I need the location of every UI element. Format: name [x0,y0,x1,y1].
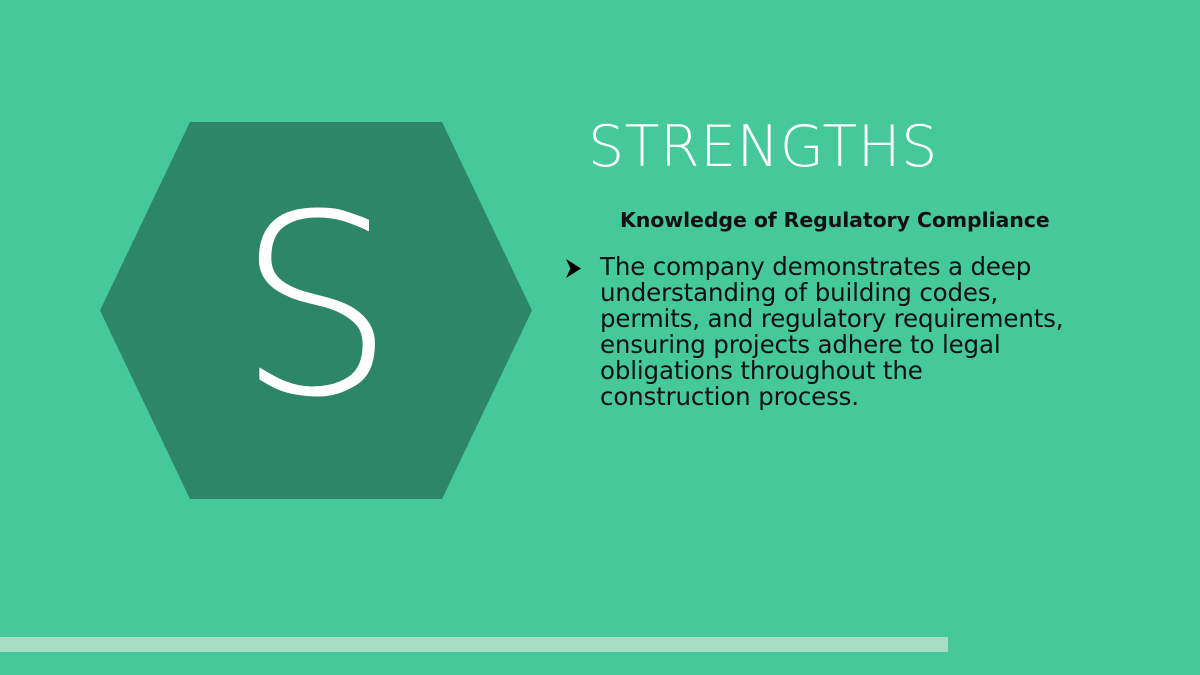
accent-bar [0,637,948,652]
content-column: STRENGTHS Knowledge of Regulatory Compli… [560,118,1120,410]
list-item-text: The company demonstrates a deep understa… [600,254,1078,410]
hexagon-badge: S [100,122,532,499]
bullet-list: The company demonstrates a deep understa… [560,232,1120,410]
list-item: The company demonstrates a deep understa… [560,254,1120,410]
badge-letter: S [100,122,532,499]
page-title: STRENGTHS [560,118,1120,178]
slide-canvas: S STRENGTHS Knowledge of Regulatory Comp… [0,0,1200,675]
section-subtitle: Knowledge of Regulatory Compliance [560,178,1120,233]
chevron-right-icon [564,254,600,280]
